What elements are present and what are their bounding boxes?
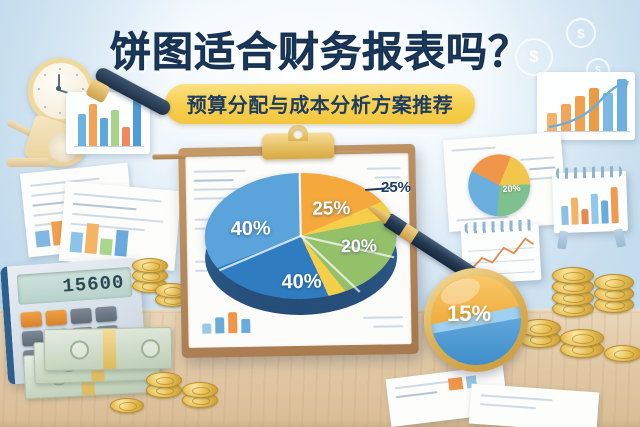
subtitle-badge: 预算分配与成本分析方案推荐 [165, 84, 476, 124]
mini-pie-label: 20% [502, 183, 521, 194]
gold-coin [604, 345, 640, 362]
gold-coin [560, 329, 604, 347]
pie-slice-label-40-light: 40% [230, 217, 270, 241]
bar [610, 187, 618, 223]
bar [571, 197, 579, 224]
main-pie-chart: 40% 25% 20% 40% [204, 171, 398, 314]
bar [215, 317, 224, 333]
banknote-bundle [44, 327, 173, 371]
bar [122, 127, 130, 146]
gold-coin [552, 267, 594, 284]
bar [228, 312, 237, 333]
magnifier-label: 15% [447, 301, 491, 327]
background-paper [59, 181, 182, 271]
pie-slice-label-40-dark: 40% [281, 271, 321, 295]
calculator-key[interactable] [95, 306, 117, 322]
magnifier-lens: 15% [431, 275, 521, 365]
calculator-display: 15600 [17, 267, 133, 305]
bar [241, 319, 250, 333]
bar [202, 324, 211, 334]
calculator-key[interactable] [20, 311, 42, 327]
gold-coin [594, 274, 634, 291]
gold-coin [182, 382, 218, 398]
page-title: 饼图适合财务报表吗？ [0, 18, 640, 78]
pie-slice-label-25: 25% [312, 198, 350, 221]
clipboard-clip[interactable] [262, 132, 334, 159]
bar [591, 194, 599, 224]
clip-hole [293, 129, 303, 139]
bar [561, 206, 569, 225]
gold-coin [132, 258, 168, 273]
pie-callout-25: 25% [381, 179, 411, 196]
bar [601, 200, 609, 223]
spiral-binding [556, 166, 622, 179]
magnifying-glass[interactable]: 15% [424, 268, 528, 372]
paper-mini-pie [466, 152, 532, 218]
gold-coin [146, 372, 182, 388]
poster-scene: $ $ $ [0, 0, 640, 427]
calculator-key[interactable] [70, 308, 92, 324]
calculator-key[interactable] [45, 309, 67, 325]
gold-coin [110, 398, 144, 413]
bar [581, 209, 589, 224]
clipboard: 40% 25% 20% 40% [178, 144, 419, 358]
paper-with-mini-pie: 20% [443, 132, 567, 232]
pie-slice-label-20: 20% [341, 236, 377, 258]
flipchart-bar-chart [552, 171, 628, 234]
clipboard-sheet: 40% 25% 20% 40% [185, 153, 411, 348]
